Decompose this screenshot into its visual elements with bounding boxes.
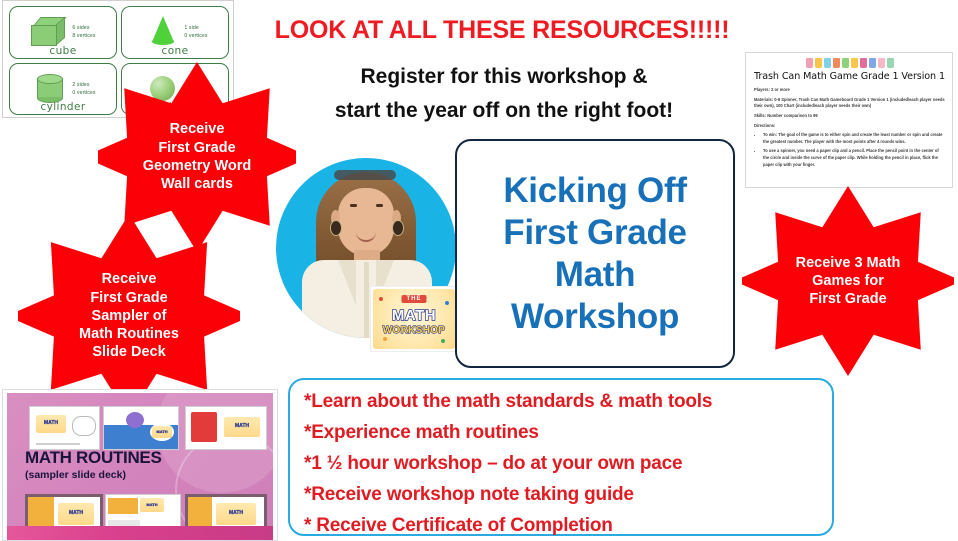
- cone-label: cone: [122, 45, 228, 57]
- star-line: Receive 3 Math: [796, 254, 901, 272]
- trash-can-icons-row: [754, 58, 945, 68]
- sampler-heading-block: MATH ROUTINES (sampler slide deck): [25, 448, 162, 481]
- sampler-subheading: (sampler slide deck): [25, 469, 162, 481]
- workshop-title: Kicking Off First Grade Math Workshop: [503, 170, 686, 338]
- logo-workshop-text: WORKSHOP: [383, 325, 445, 336]
- trash-can-icon: [815, 58, 822, 68]
- trash-can-icon: [869, 58, 876, 68]
- star-burst-math-routines-sampler: Receive First Grade Sampler of Math Rout…: [18, 214, 240, 418]
- geometry-card-cube: 6 sides 8 vertices cube: [9, 6, 117, 59]
- logo-math-text: MATH: [392, 307, 436, 324]
- sampler-bottom-band: [7, 526, 273, 540]
- cube-sides: 6 sides: [72, 24, 95, 32]
- direction-item: To win: The goal of the game is to eithe…: [763, 132, 945, 145]
- logo-the-text: THE: [402, 295, 427, 303]
- cylinder-vertices: 0 vertices: [72, 89, 95, 97]
- trash-can-icon: [860, 58, 867, 68]
- star-label-sampler: Receive First Grade Sampler of Math Rout…: [18, 214, 240, 418]
- document-title: Trash Can Math Game Grade 1 Version 1: [754, 71, 945, 82]
- trash-can-icon: [824, 58, 831, 68]
- sampler-heading: MATH ROUTINES: [25, 448, 162, 468]
- cylinder-sides: 2 sides: [72, 81, 95, 89]
- benefit-item: * Receive Certificate of Completion: [304, 512, 832, 541]
- trash-can-icon: [851, 58, 858, 68]
- trash-can-icon: [833, 58, 840, 68]
- title-line-2: First Grade: [503, 212, 686, 254]
- cone-sides: 1 side: [184, 24, 207, 32]
- presenter-photo: THE MATH WORKSHOP: [276, 158, 456, 352]
- benefit-item: *Experience math routines: [304, 419, 832, 448]
- headline: LOOK AT ALL THESE RESOURCES!!!!!: [232, 16, 772, 45]
- star-line: Receive: [170, 120, 225, 138]
- geometry-card-facts: 6 sides 8 vertices: [72, 24, 95, 40]
- title-line-1: Kicking Off: [503, 170, 686, 212]
- star-label-games: Receive 3 Math Games for First Grade: [742, 186, 954, 376]
- star-line: First Grade: [158, 139, 235, 157]
- document-directions-list: To win: The goal of the game is to eithe…: [763, 132, 945, 168]
- document-directions-label: Directions:: [754, 123, 945, 130]
- trash-can-icon: [887, 58, 894, 68]
- sampler-slide-thumb: MATH: [29, 406, 100, 450]
- document-players: Players: 2 or more: [754, 87, 945, 94]
- sampler-slide-thumb: MATH: [103, 406, 179, 450]
- star-line: Wall cards: [161, 175, 233, 193]
- benefit-item: *Learn about the math standards & math t…: [304, 388, 832, 417]
- star-line: Sampler of: [92, 307, 167, 325]
- star-burst-math-games: Receive 3 Math Games for First Grade: [742, 186, 954, 376]
- sampler-slide-thumb: MATH: [185, 406, 267, 450]
- trash-can-icon: [842, 58, 849, 68]
- benefit-item: *1 ½ hour workshop – do at your own pace: [304, 450, 832, 479]
- cone-vertices: 0 vertices: [184, 32, 207, 40]
- subheading-line-2: start the year off on the right foot!: [244, 94, 764, 128]
- star-line: Geometry Word: [143, 157, 252, 175]
- trash-can-icon: [878, 58, 885, 68]
- star-line: Receive: [102, 270, 157, 288]
- math-workshop-logo: THE MATH WORKSHOP: [370, 286, 458, 352]
- geometry-card-facts: 2 sides 0 vertices: [72, 81, 95, 97]
- trash-can-math-game-document: Trash Can Math Game Grade 1 Version 1 Pl…: [745, 52, 953, 188]
- subheading-line-1: Register for this workshop &: [244, 60, 764, 94]
- title-line-3: Math: [503, 254, 686, 296]
- title-line-4: Workshop: [503, 296, 686, 338]
- geometry-card-cone: 1 side 0 vertices cone: [121, 6, 229, 59]
- star-line: Math Routines: [79, 325, 179, 343]
- star-line: Games for: [812, 272, 884, 290]
- document-skills: Skills: Number comparison to 99: [754, 113, 945, 120]
- math-routines-sampler-preview: MATH MATH MATH MATH ROUTINES (sampler sl…: [2, 389, 278, 541]
- cube-label: cube: [10, 45, 116, 57]
- cube-vertices: 8 vertices: [72, 32, 95, 40]
- direction-item: To use a spinner, you need a paper clip …: [763, 148, 945, 168]
- benefit-item: *Receive workshop note taking guide: [304, 481, 832, 510]
- poster-canvas: 6 sides 8 vertices cube 1 side 0 vertice…: [0, 0, 958, 541]
- star-line: First Grade: [809, 290, 886, 308]
- workshop-benefits-panel: *Learn about the math standards & math t…: [288, 378, 834, 536]
- geometry-card-facts: 1 side 0 vertices: [184, 24, 207, 40]
- document-materials: Materials: 0-9 Spinner, Trash Can Math G…: [754, 97, 945, 110]
- subheading: Register for this workshop & start the y…: [244, 60, 764, 128]
- star-line: Slide Deck: [92, 343, 165, 361]
- trash-can-icon: [806, 58, 813, 68]
- star-line: First Grade: [90, 289, 167, 307]
- workshop-title-box: Kicking Off First Grade Math Workshop: [455, 139, 735, 368]
